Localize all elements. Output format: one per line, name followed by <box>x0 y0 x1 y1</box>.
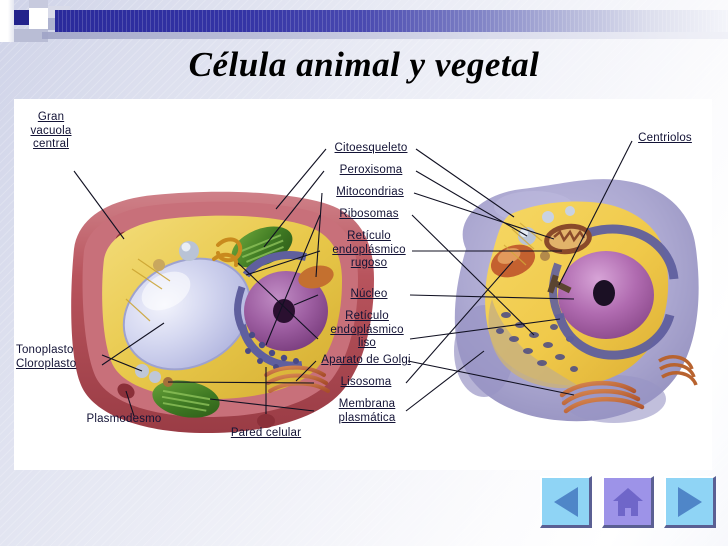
label-citoesqueleto: Citoesqueleto <box>326 142 416 156</box>
label-membrana-plasmatica: Membrana plasmática <box>319 398 415 425</box>
navigation-bar <box>540 476 720 536</box>
home-slide-button[interactable] <box>602 476 654 528</box>
deco-bar-stripes <box>55 10 728 32</box>
previous-slide-button[interactable] <box>540 476 592 528</box>
diagram-panel: Gran vacuola central Tonoplasto Cloropla… <box>14 99 712 470</box>
label-reticulo-endoplasmico-liso: Retículo endoplásmico liso <box>317 310 417 351</box>
label-tonoplasto: Tonoplasto <box>16 344 96 358</box>
label-peroxisoma: Peroxisoma <box>326 164 416 178</box>
label-lisosoma: Lisosoma <box>321 376 411 390</box>
deco-white-column <box>0 0 14 42</box>
header-decoration <box>0 0 728 42</box>
label-cloroplasto: Cloroplasto <box>16 358 96 372</box>
label-nucleo: Núcleo <box>329 288 409 302</box>
deco-accent-bar <box>55 10 728 32</box>
label-reticulo-endoplasmico-rugoso: Retículo endoplásmico rugoso <box>319 230 419 271</box>
label-plasmodesmo: Plasmodesmo <box>74 413 174 427</box>
label-pared-celular: Pared celular <box>214 427 318 441</box>
triangle-left-icon <box>554 487 578 517</box>
house-icon <box>613 488 643 516</box>
label-aparato-de-golgi: Aparato de Golgi <box>314 354 418 368</box>
page-title: Célula animal y vegetal <box>0 45 728 85</box>
label-mitocondrias: Mitocondrias <box>324 186 416 200</box>
label-ribosomas: Ribosomas <box>324 208 414 222</box>
label-centriolos: Centriolos <box>626 132 704 146</box>
triangle-right-icon <box>678 487 702 517</box>
deco-square-dark <box>14 10 29 25</box>
next-slide-button[interactable] <box>664 476 716 528</box>
deco-square-mid <box>29 0 48 8</box>
slide: Célula animal y vegetal <box>0 0 728 546</box>
animal-cell <box>454 179 699 423</box>
deco-bar-shadow <box>42 32 728 39</box>
label-gran-vacuola-central: Gran vacuola central <box>20 111 82 152</box>
deco-square-white <box>29 8 48 29</box>
